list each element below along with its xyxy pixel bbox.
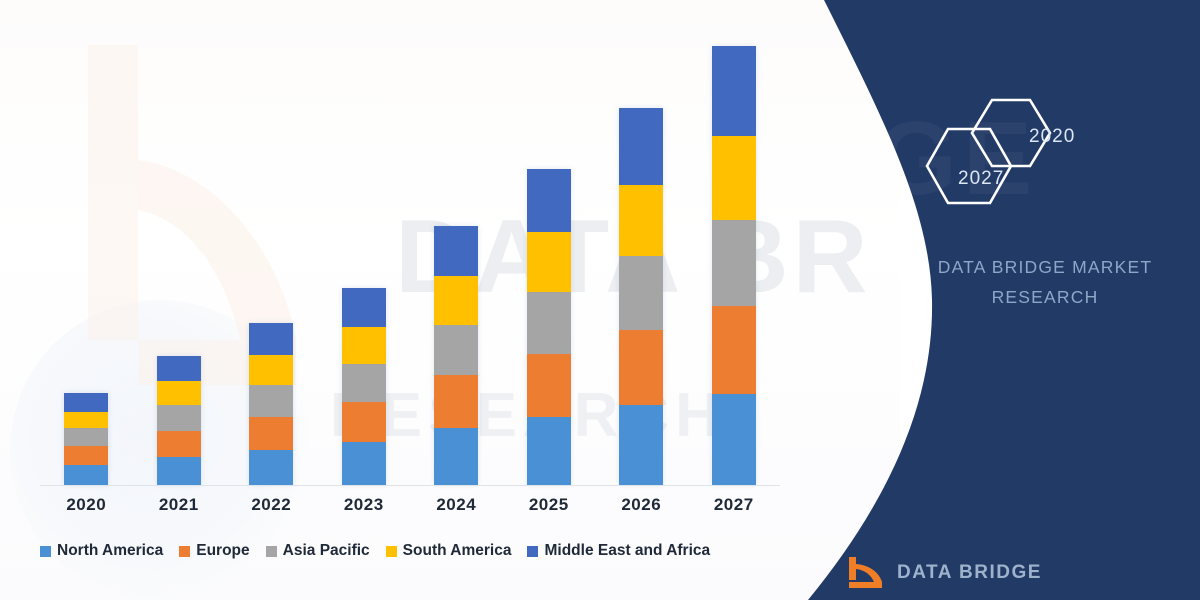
bar-segment <box>249 385 293 417</box>
stacked-bar <box>712 46 756 485</box>
hexagon-2027-label: 2027 <box>958 168 1004 190</box>
bar-column-2021 <box>138 30 220 485</box>
bar-segment <box>712 306 756 394</box>
legend-label: North America <box>57 542 163 560</box>
x-tick-2027: 2027 <box>693 495 775 515</box>
x-tick-2020: 2020 <box>45 495 127 515</box>
bar-segment <box>619 405 663 485</box>
bar-segment <box>434 428 478 485</box>
footer-logo: DATA BRIDGE <box>845 556 1042 590</box>
bar-segment <box>64 393 108 412</box>
legend-swatch-icon <box>179 546 190 557</box>
brand-name-line-1: DATA BRIDGE MARKET <box>905 257 1185 278</box>
bar-segment <box>434 325 478 376</box>
bar-segment <box>64 465 108 485</box>
bar-segment <box>249 323 293 355</box>
bar-column-2025 <box>508 30 590 485</box>
legend-swatch-icon <box>40 546 51 557</box>
legend-label: Middle East and Africa <box>544 542 710 560</box>
legend-item[interactable]: North America <box>40 542 163 560</box>
legend-label: Asia Pacific <box>283 542 370 560</box>
legend-item[interactable]: Europe <box>179 542 249 560</box>
stacked-bar <box>64 393 108 485</box>
x-tick-2023: 2023 <box>323 495 405 515</box>
footer-logo-text: DATA BRIDGE <box>897 562 1042 584</box>
bar-segment <box>619 108 663 185</box>
stacked-bar <box>434 226 478 485</box>
bar-segment <box>434 276 478 324</box>
legend-label: South America <box>403 542 512 560</box>
legend-swatch-icon <box>266 546 277 557</box>
chart-legend: North AmericaEuropeAsia PacificSouth Ame… <box>40 542 800 560</box>
hexagon-badges <box>920 95 1120 225</box>
bar-segment <box>342 442 386 485</box>
bar-segment <box>712 220 756 306</box>
stacked-bar <box>527 169 571 485</box>
bar-column-2022 <box>230 30 312 485</box>
bar-segment <box>342 327 386 364</box>
legend-swatch-icon <box>527 546 538 557</box>
stacked-bar <box>157 356 201 485</box>
bar-segment <box>249 417 293 450</box>
bar-segment <box>157 457 201 485</box>
x-tick-2026: 2026 <box>600 495 682 515</box>
plot-area <box>40 30 780 486</box>
x-tick-2022: 2022 <box>230 495 312 515</box>
stacked-bar <box>619 108 663 485</box>
bar-segment <box>434 375 478 428</box>
stacked-bar <box>249 323 293 485</box>
x-axis-tick-labels: 20202021202220232024202520262027 <box>40 495 780 515</box>
bar-segment <box>434 226 478 277</box>
legend-item[interactable]: South America <box>386 542 512 560</box>
bar-segment <box>64 412 108 428</box>
hexagon-2020-label: 2020 <box>1029 126 1075 148</box>
bridge-logo-icon <box>845 556 887 590</box>
legend-swatch-icon <box>386 546 397 557</box>
bar-segment <box>712 394 756 485</box>
x-tick-2024: 2024 <box>415 495 497 515</box>
bar-segment <box>249 450 293 485</box>
stacked-bar <box>342 288 386 485</box>
legend-label: Europe <box>196 542 249 560</box>
chart-infographic: DATA BR RESEARCH 20202021202220232024202… <box>0 0 1200 600</box>
bar-segment <box>527 354 571 417</box>
bar-segment <box>64 446 108 465</box>
bar-segment <box>527 417 571 485</box>
bar-segment <box>249 355 293 385</box>
bar-segment <box>527 292 571 354</box>
legend-item[interactable]: Middle East and Africa <box>527 542 710 560</box>
bar-segment <box>342 288 386 327</box>
bar-column-2027 <box>693 30 775 485</box>
bar-segment <box>342 402 386 442</box>
x-tick-2021: 2021 <box>138 495 220 515</box>
bar-column-2023 <box>323 30 405 485</box>
bar-segment <box>619 185 663 256</box>
bar-column-2026 <box>600 30 682 485</box>
bars-container <box>40 30 780 485</box>
brand-name-line-2: RESEARCH <box>905 287 1185 308</box>
bar-segment <box>342 364 386 402</box>
x-tick-2025: 2025 <box>508 495 590 515</box>
bar-segment <box>712 46 756 136</box>
bar-segment <box>619 256 663 329</box>
legend-item[interactable]: Asia Pacific <box>266 542 370 560</box>
bar-segment <box>64 428 108 446</box>
bar-segment <box>157 431 201 458</box>
bar-column-2024 <box>415 30 497 485</box>
bar-segment <box>157 405 201 430</box>
bar-segment <box>157 356 201 381</box>
bar-segment <box>527 169 571 232</box>
bar-segment <box>619 330 663 406</box>
bar-segment <box>527 232 571 291</box>
bar-column-2020 <box>45 30 127 485</box>
bar-segment <box>712 136 756 219</box>
axis-baseline <box>40 485 780 486</box>
bar-segment <box>157 381 201 405</box>
